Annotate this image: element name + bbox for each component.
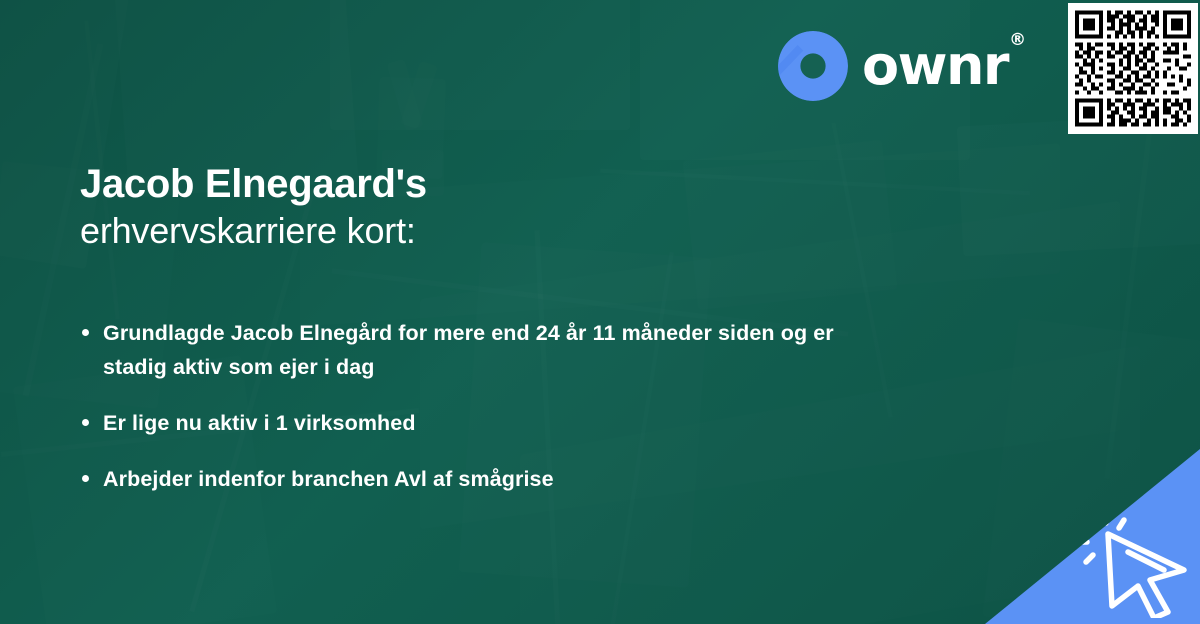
list-item-text: Arbejder indenfor branchen Avl af smågri… — [103, 462, 554, 496]
list-item: Arbejder indenfor branchen Avl af smågri… — [82, 462, 882, 496]
bullet-dot-icon — [82, 329, 89, 336]
registered-trademark-icon: ® — [1009, 30, 1025, 50]
ownr-wordmark: ownr® — [862, 39, 1024, 93]
bullet-dot-icon — [82, 475, 89, 482]
ownr-circle-swirl-icon — [778, 31, 848, 101]
qr-code-icon — [1075, 10, 1191, 127]
page-title: Jacob Elnegaard's erhvervskarriere kort: — [80, 160, 427, 254]
list-item: Er lige nu aktiv i 1 virksomhed — [82, 406, 882, 440]
fact-list: Grundlagde Jacob Elnegård for mere end 2… — [82, 316, 882, 518]
list-item-text: Er lige nu aktiv i 1 virksomhed — [103, 406, 416, 440]
list-item: Grundlagde Jacob Elnegård for mere end 2… — [82, 316, 882, 384]
list-item-text: Grundlagde Jacob Elnegård for mere end 2… — [103, 316, 882, 384]
bullet-dot-icon — [82, 419, 89, 426]
qr-code[interactable] — [1068, 3, 1198, 134]
ownr-wordmark-text: ownr — [862, 34, 1008, 97]
title-line-1: Jacob Elnegaard's — [80, 160, 427, 208]
ownr-logo[interactable]: ownr® — [778, 31, 1024, 101]
career-card: ownr® — [0, 0, 1200, 624]
title-line-2: erhvervskarriere kort: — [80, 208, 427, 254]
